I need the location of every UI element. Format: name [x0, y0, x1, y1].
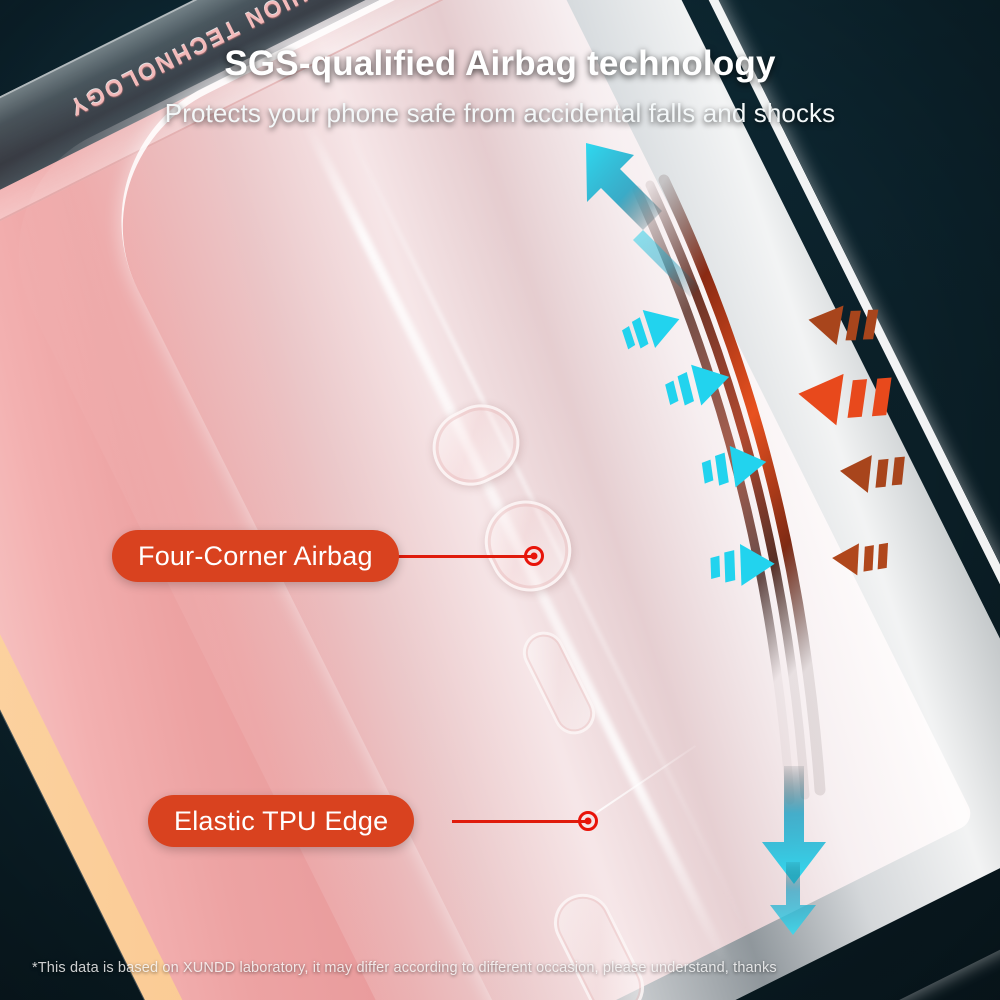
- headline-block: SGS-qualified Airbag technology Protects…: [0, 44, 1000, 129]
- disclaimer-footnote: *This data is based on XUNDD laboratory,…: [32, 960, 777, 976]
- callout-target-marker: [578, 811, 598, 831]
- callout-leader-line: [390, 555, 536, 558]
- callout-elastic-tpu-edge: Elastic TPU Edge: [148, 795, 414, 847]
- page-subtitle: Protects your phone safe from accidental…: [0, 98, 1000, 129]
- callout-target-marker: [524, 546, 544, 566]
- callout-leader-line: [452, 820, 586, 823]
- product-feature-image: AIR CUSHION TECHNOLOGY: [0, 0, 1000, 1000]
- callout-four-corner-airbag: Four-Corner Airbag: [112, 530, 399, 582]
- page-title: SGS-qualified Airbag technology: [0, 44, 1000, 84]
